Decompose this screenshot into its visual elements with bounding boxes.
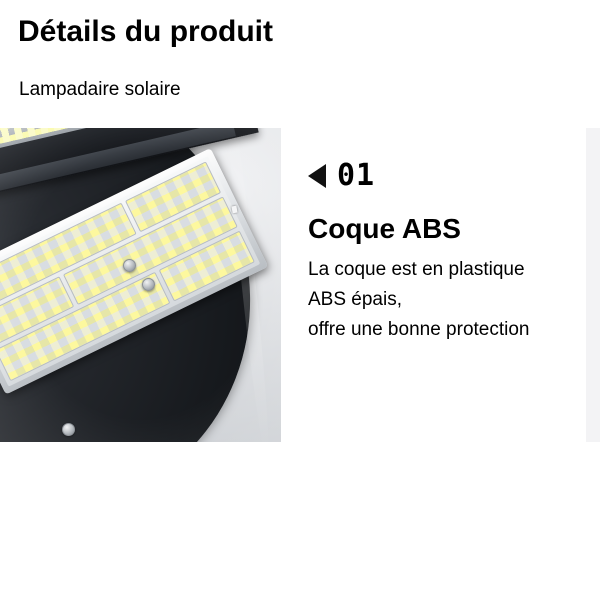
feature-heading: Coque ABS: [308, 212, 584, 246]
right-edge-strip: [586, 128, 600, 442]
page-subtitle: Lampadaire solaire: [19, 78, 181, 102]
step-number: 01: [337, 161, 375, 191]
feature-block: 01 Coque ABS La coque est en plastique A…: [0, 128, 600, 442]
screw-icon: [142, 278, 155, 291]
feature-text-panel: 01 Coque ABS La coque est en plastique A…: [308, 128, 584, 345]
triangle-left-icon: [308, 164, 326, 188]
step-badge: 01: [308, 128, 584, 196]
screw-icon: [123, 259, 136, 272]
feature-body: La coque est en plastique ABS épais, off…: [308, 255, 584, 345]
sensor-dot-icon: [231, 206, 237, 214]
feature-body-line: La coque est en plastique: [308, 255, 584, 285]
page-title: Détails du produit: [18, 13, 273, 51]
screw-icon: [62, 423, 75, 436]
product-photo: [0, 128, 281, 442]
feature-body-line: offre une bonne protection: [308, 315, 584, 345]
feature-body-line: ABS épais,: [308, 285, 584, 315]
